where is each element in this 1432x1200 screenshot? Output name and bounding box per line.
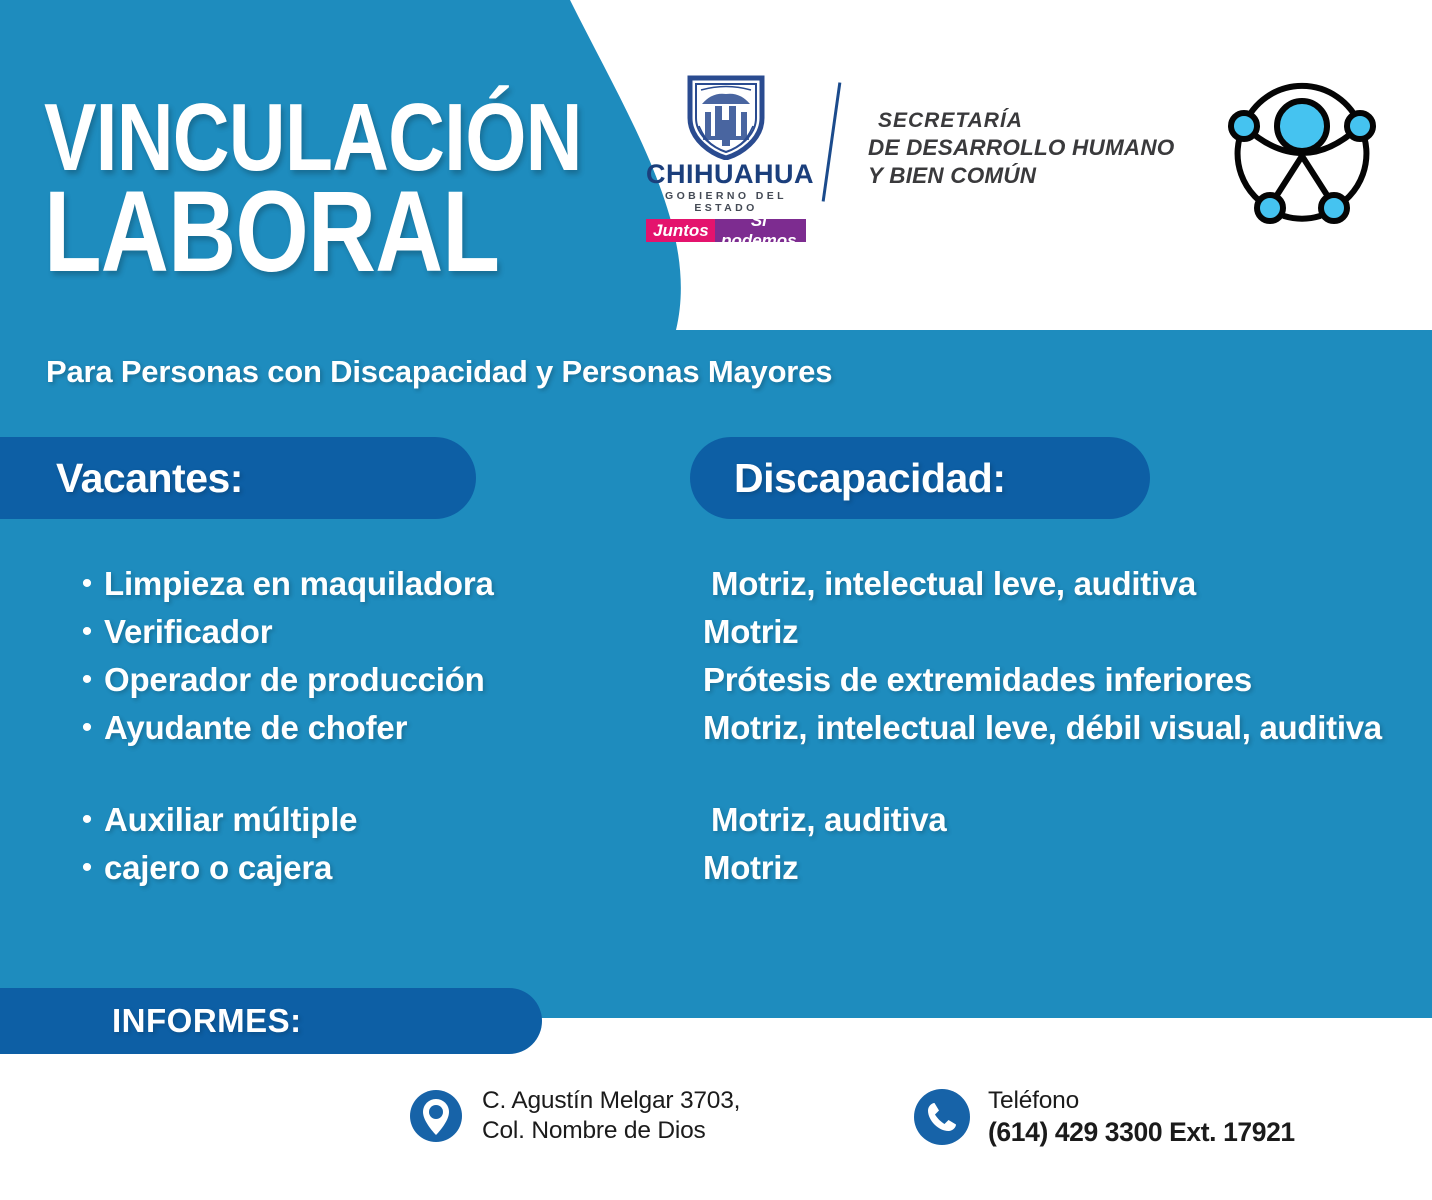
job-title: Auxiliar múltiple — [104, 803, 357, 837]
bullet-icon: • — [70, 851, 104, 885]
bullet-icon: • — [70, 803, 104, 837]
chihuahua-logo: CHIHUAHUA GOBIERNO DEL ESTADO Juntos Sí … — [646, 74, 806, 242]
address-line-two: Col. Nombre de Dios — [482, 1117, 706, 1144]
job-title: cajero o cajera — [104, 851, 332, 885]
section-header-informes: INFORMES: — [0, 988, 542, 1054]
bullet-icon: • — [70, 615, 104, 649]
vacantes-label: Vacantes: — [56, 455, 243, 502]
page-subtitle: Para Personas con Discapacidad y Persona… — [46, 354, 832, 390]
phone-icon — [914, 1089, 970, 1145]
logo-slogan: Juntos Sí podemos — [646, 219, 806, 242]
address-line-one: C. Agustín Melgar 3703, — [482, 1087, 740, 1114]
header: VINCULACIÓN LABORAL Para Personas con Di… — [0, 0, 1432, 330]
disability-value: Motriz, auditiva — [703, 803, 1418, 837]
logo-slogan-first: Juntos — [646, 219, 715, 242]
list-item: • Verificador — [70, 615, 670, 649]
phone-number: (614) 429 3300 Ext. 17921 — [988, 1117, 1295, 1147]
discapacidad-label: Discapacidad: — [734, 455, 1006, 502]
job-title: Operador de producción — [104, 663, 485, 697]
address-text: C. Agustín Melgar 3703, Col. Nombre de D… — [482, 1086, 740, 1146]
secretaria-line-one: SECRETARÍA — [868, 108, 1175, 134]
job-title: Verificador — [104, 615, 272, 649]
list-item: • Ayudante de chofer — [70, 711, 670, 745]
disability-value: Prótesis de extremidades inferiores — [703, 663, 1418, 697]
job-title: Ayudante de chofer — [104, 711, 407, 745]
network-eye-icon — [1222, 80, 1382, 235]
logo-slogan-second: Sí podemos — [715, 219, 806, 242]
discapacidad-list: Motriz, intelectual leve, auditiva Motri… — [703, 567, 1418, 899]
disability-value: Motriz, intelectual leve, débil visual, … — [703, 711, 1418, 745]
chihuahua-state-shield-icon — [646, 74, 806, 160]
phone-text: Teléfono (614) 429 3300 Ext. 17921 — [988, 1086, 1295, 1149]
page-title: VINCULACIÓN LABORAL — [44, 96, 684, 284]
list-item: • cajero o cajera — [70, 851, 670, 885]
job-title: Limpieza en maquiladora — [104, 567, 494, 601]
disability-value: Motriz — [703, 851, 1418, 885]
secretaria-block: SECRETARÍA DE DESARROLLO HUMANO Y BIEN C… — [868, 108, 1175, 191]
bullet-icon: • — [70, 663, 104, 697]
informes-label: INFORMES: — [112, 1002, 302, 1040]
location-pin-icon — [408, 1088, 464, 1144]
vacantes-list: • Limpieza en maquiladora • Verificador … — [70, 567, 670, 899]
secretaria-line-two: DE DESARROLLO HUMANO — [868, 134, 1175, 162]
title-line-two: LABORAL — [44, 182, 569, 283]
list-spacer — [703, 759, 1418, 803]
section-header-vacantes: Vacantes: — [0, 437, 476, 519]
disability-value: Motriz, intelectual leve, auditiva — [703, 567, 1418, 601]
contact-phone[interactable]: Teléfono (614) 429 3300 Ext. 17921 — [914, 1086, 1295, 1149]
secretaria-line-three: Y BIEN COMÚN — [868, 162, 1175, 190]
bullet-icon: • — [70, 567, 104, 601]
list-item: • Limpieza en maquiladora — [70, 567, 670, 601]
disability-value: Motriz — [703, 615, 1418, 649]
contact-address[interactable]: C. Agustín Melgar 3703, Col. Nombre de D… — [408, 1086, 740, 1146]
logo-divider-line — [822, 82, 842, 201]
list-spacer — [70, 759, 670, 803]
bullet-icon: • — [70, 711, 104, 745]
poster-canvas: VINCULACIÓN LABORAL Para Personas con Di… — [0, 0, 1432, 1200]
phone-label: Teléfono — [988, 1087, 1079, 1114]
list-item: • Operador de producción — [70, 663, 670, 697]
list-item: • Auxiliar múltiple — [70, 803, 670, 837]
logo-state-name: CHIHUAHUA — [646, 161, 806, 188]
section-header-discapacidad: Discapacidad: — [690, 437, 1150, 519]
